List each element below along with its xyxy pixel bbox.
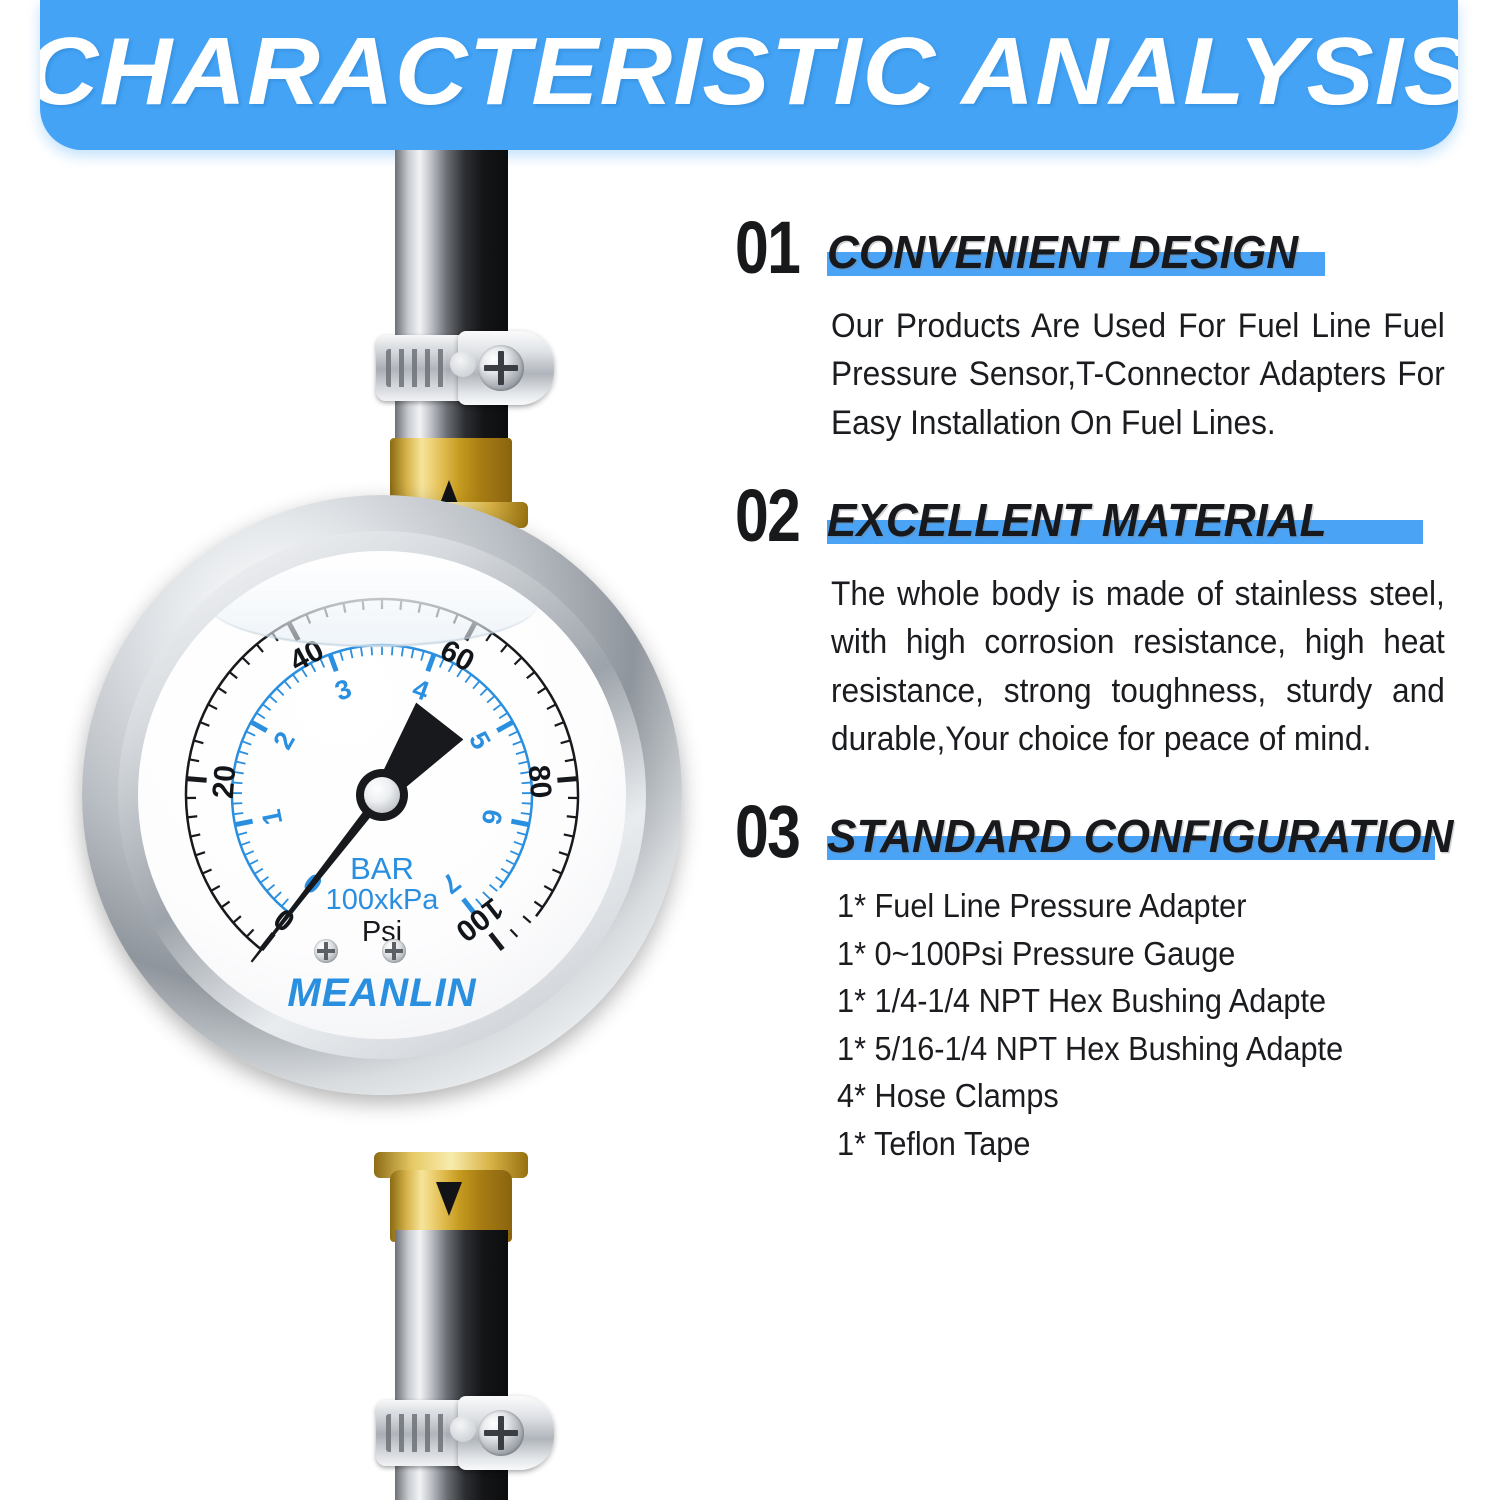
scale-label: 2 xyxy=(267,727,301,755)
scale-label: 20 xyxy=(207,764,243,800)
section-title-wrap: EXCELLENT MATERIAL xyxy=(827,497,1347,548)
scale-label: 1 xyxy=(256,807,288,828)
glass-reflection xyxy=(208,559,538,647)
list-item: 1* 0~100Psi Pressure Gauge xyxy=(837,930,1421,978)
section-01: 01 CONVENIENT DESIGN Our Products Are Us… xyxy=(735,215,1465,447)
clamp-housing xyxy=(458,1396,554,1470)
gauge-bezel: 020406080100 01234567 BAR 100xkPa Psi ME… xyxy=(118,531,646,1059)
section-title: EXCELLENT MATERIAL xyxy=(827,497,1327,544)
section-02: 02 EXCELLENT MATERIAL The whole body is … xyxy=(735,483,1465,763)
scale-label: 5 xyxy=(463,727,497,755)
list-item: 1* 5/16-1/4 NPT Hex Bushing Adapte xyxy=(837,1025,1421,1073)
gauge-brand-label: MEANLIN xyxy=(138,971,626,1016)
clamp-band-slots xyxy=(386,349,446,387)
section-title: STANDARD CONFIGURATION xyxy=(827,813,1453,860)
gauge-unit-kpa: 100xkPa xyxy=(326,884,440,916)
section-number: 03 xyxy=(735,799,799,864)
product-photo: 020406080100 01234567 BAR 100xkPa Psi ME… xyxy=(60,150,720,1500)
gauge-dial-face: 020406080100 01234567 BAR 100xkPa Psi ME… xyxy=(138,551,626,1039)
feature-list: 01 CONVENIENT DESIGN Our Products Are Us… xyxy=(735,215,1465,1203)
section-body: The whole body is made of stainless stee… xyxy=(831,570,1445,763)
clamp-screw-icon xyxy=(478,345,524,391)
section-title-wrap: CONVENIENT DESIGN xyxy=(827,229,1318,280)
clamp-band-slots xyxy=(386,1414,446,1452)
configuration-list: 1* Fuel Line Pressure Adapter1* 0~100Psi… xyxy=(837,882,1421,1167)
scale-label: 7 xyxy=(436,867,466,900)
pressure-gauge: 020406080100 01234567 BAR 100xkPa Psi ME… xyxy=(82,495,682,1095)
dial-screw-left-icon xyxy=(314,939,338,963)
clamp-dimple xyxy=(450,1416,476,1442)
page-title: CHARACTERISTIC ANALYSIS xyxy=(40,24,1458,120)
section-heading: 03 STANDARD CONFIGURATION xyxy=(735,799,1465,864)
header-banner: CHARACTERISTIC ANALYSIS xyxy=(40,0,1458,150)
scale-label: 80 xyxy=(522,764,558,800)
section-number: 02 xyxy=(735,483,799,548)
gauge-unit-bar: BAR xyxy=(350,851,414,886)
scale-label: 3 xyxy=(331,673,356,706)
list-item: 1* 1/4-1/4 NPT Hex Bushing Adapte xyxy=(837,977,1421,1025)
clamp-screw-icon xyxy=(478,1410,524,1456)
section-03: 03 STANDARD CONFIGURATION 1* Fuel Line P… xyxy=(735,799,1465,1167)
section-heading: 02 EXCELLENT MATERIAL xyxy=(735,483,1465,548)
hose-clamp-top xyxy=(376,335,536,401)
section-number: 01 xyxy=(735,215,799,280)
needle-hub-cap xyxy=(364,777,400,813)
scale-label: 6 xyxy=(476,807,508,828)
list-item: 4* Hose Clamps xyxy=(837,1072,1421,1120)
dial-screw-right-icon xyxy=(382,939,406,963)
section-title-wrap: STANDARD CONFIGURATION xyxy=(827,813,1479,864)
scale-label: 100 xyxy=(449,891,509,948)
scale-label: 4 xyxy=(409,673,434,706)
section-body: Our Products Are Used For Fuel Line Fuel… xyxy=(831,302,1445,447)
list-item: 1* Teflon Tape xyxy=(837,1120,1421,1168)
list-item: 1* Fuel Line Pressure Adapter xyxy=(837,882,1421,930)
section-title: CONVENIENT DESIGN xyxy=(827,229,1298,276)
section-heading: 01 CONVENIENT DESIGN xyxy=(735,215,1465,280)
clamp-housing xyxy=(458,331,554,405)
hose-clamp-bottom xyxy=(376,1400,536,1466)
fuel-hose-top xyxy=(395,150,508,455)
clamp-dimple xyxy=(450,351,476,377)
